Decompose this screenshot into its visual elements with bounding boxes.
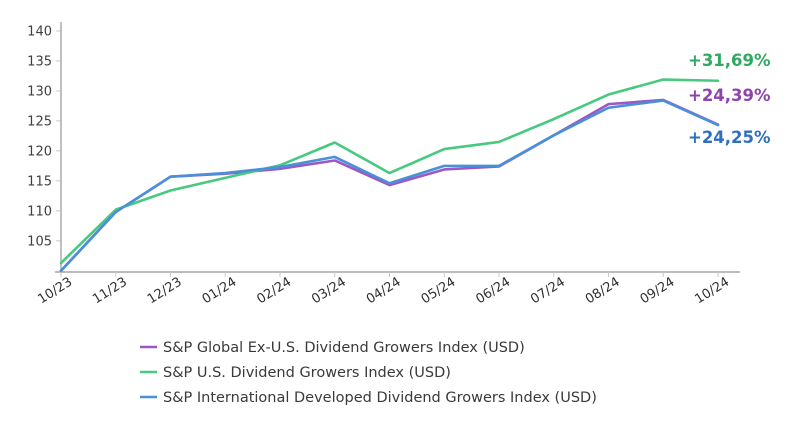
x-tick-label-10-23: 10/23 [35, 275, 75, 308]
line-chart: 105110115120125130135140 10/2311/2312/23… [0, 0, 799, 422]
y-tick-label-120: 120 [27, 144, 52, 159]
x-tick-label-09-24: 09/24 [638, 275, 678, 308]
series-line-0 [61, 100, 718, 271]
y-tick-label-110: 110 [27, 204, 52, 219]
legend-label-1: S&P U.S. Dividend Growers Index (USD) [163, 365, 451, 381]
x-tick-label-10-24: 10/24 [692, 275, 732, 308]
x-tick-label-03-24: 03/24 [309, 275, 349, 308]
series-lines [61, 80, 718, 271]
y-tick-label-125: 125 [27, 114, 52, 129]
y-tick-label-115: 115 [27, 174, 52, 189]
annotation-2425: +24,25% [688, 128, 771, 147]
x-tick-label-07-24: 07/24 [528, 275, 568, 308]
annotation-2439: +24,39% [688, 86, 771, 105]
x-tick-label-11-23: 11/23 [90, 275, 130, 308]
x-tick-label-04-24: 04/24 [364, 275, 404, 308]
y-tick-label-135: 135 [27, 54, 52, 69]
x-axis-tick-labels: 10/2311/2312/2301/2402/2403/2404/2405/24… [35, 275, 732, 308]
x-tick-label-06-24: 06/24 [473, 275, 513, 308]
x-tick-label-12-23: 12/23 [145, 275, 185, 308]
chart-container: 105110115120125130135140 10/2311/2312/23… [0, 0, 799, 422]
y-tick-label-105: 105 [27, 234, 52, 249]
y-tick-label-140: 140 [27, 24, 52, 39]
x-tick-label-05-24: 05/24 [419, 275, 459, 308]
legend-label-2: S&P International Developed Dividend Gro… [163, 390, 597, 406]
annotation-3169: +31,69% [688, 51, 771, 70]
series-end-annotations: +31,69%+24,39%+24,25% [688, 51, 771, 147]
y-axis-tick-labels: 105110115120125130135140 [27, 24, 52, 249]
x-tick-label-01-24: 01/24 [200, 275, 240, 308]
chart-legend: S&P Global Ex-U.S. Dividend Growers Inde… [140, 340, 597, 406]
legend-label-0: S&P Global Ex-U.S. Dividend Growers Inde… [163, 340, 525, 356]
x-tick-label-02-24: 02/24 [254, 275, 294, 308]
y-axis-tick-marks [56, 31, 61, 241]
y-tick-label-130: 130 [27, 84, 52, 99]
x-axis-tick-marks [61, 272, 718, 277]
x-tick-label-08-24: 08/24 [583, 275, 623, 308]
